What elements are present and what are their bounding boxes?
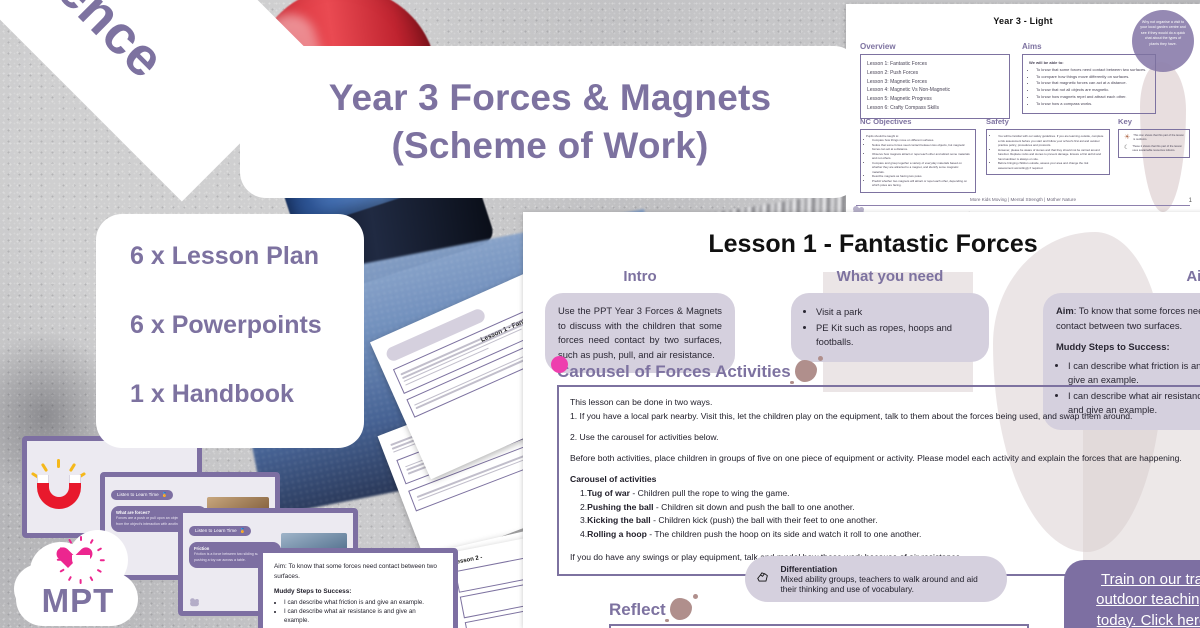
doc-nc-item: Notice that some forces need contact bet… [872, 143, 970, 152]
lesson1-steps-heading: Muddy Steps to Success: [1056, 341, 1170, 352]
paint-splat-icon [670, 598, 692, 620]
pink-splat-icon [551, 356, 568, 373]
feature-item-powerpoints: 6 x Powerpoints [130, 311, 364, 340]
activity-name: Pushing the ball [587, 502, 653, 512]
paint-splat-icon [795, 360, 817, 382]
activity-name: Kicking the ball [587, 515, 651, 525]
lesson1-carousel-box: This lesson can be done in two ways. 1. … [557, 385, 1200, 576]
doc-section-overview: Overview Lesson 1: Fantastic Forces Less… [860, 42, 1010, 119]
lesson1-activities-heading: Carousel of activities [570, 473, 1192, 487]
doc-overview-lesson: Lesson 2: Push Forces [867, 69, 1003, 78]
doc-key-item: These 2 shows that this part of the less… [1132, 145, 1184, 153]
doc-nc-item: Predict whether two magnets will attract… [872, 179, 970, 188]
lesson1-aim-label: Aim [1056, 305, 1074, 316]
muddy-cloud-icon [189, 599, 200, 607]
cta-banner[interactable]: Train on our tra outdoor teaching today.… [1064, 560, 1200, 628]
doc-aims-item: To know how magnets repel and attract ea… [1036, 94, 1149, 101]
doc-safety-box: You will be familiar with our safety gui… [986, 129, 1110, 175]
listen-to-learn-badge: Listen to Learn Time 🏅 [111, 490, 173, 500]
cta-line1: Train on our tra [1101, 571, 1200, 588]
slide4-step: I can describe what friction is and give… [284, 599, 442, 608]
activity-desc: - Children pull the rope to wing the gam… [630, 488, 790, 498]
doc-section-key: Key ☀ This icon shows that this part of … [1118, 117, 1190, 158]
doc-aims-item: To compare how things move differently o… [1036, 74, 1149, 81]
leaf-icon: ☾ [1124, 145, 1129, 151]
doc-nc-item: Observe how magnets attract or repel eac… [872, 152, 970, 161]
activity-desc: - Children kick (push) the ball with the… [651, 515, 878, 525]
doc-aims-box: We will be able to: To know that some fo… [1022, 54, 1156, 114]
activity-desc: - The children push the hoop on its side… [647, 529, 922, 539]
doc-nc-box: Pupils should be taught to: Compare how … [860, 129, 976, 193]
doc-nc-heading: NC Objectives [860, 117, 976, 126]
lesson1-reflect-heading-text: Reflect [609, 600, 666, 619]
doc-key-heading: Key [1118, 117, 1190, 126]
lesson1-activity-item: 3.Kicking the ball - Children kick (push… [570, 514, 1192, 528]
doc-safety-heading: Safety [986, 117, 1110, 126]
lesson1-carousel-section: Carousel of Forces Activities This lesso… [557, 360, 1200, 576]
doc-overview-heading: Overview [860, 42, 1010, 51]
activity-name: Rolling a hoop [587, 529, 647, 539]
cta-text[interactable]: Train on our tra outdoor teaching today.… [1080, 570, 1200, 628]
lesson1-carousel-heading: Carousel of Forces Activities [557, 360, 1200, 382]
doc-safety-item: However, please be aware of stones and t… [998, 148, 1104, 162]
doc-section-nc-objectives: NC Objectives Pupils should be taught to… [860, 117, 976, 193]
listen-to-learn-label: Listen to Learn Time [195, 528, 237, 533]
lesson1-intro-heading: Intro [545, 268, 735, 285]
lesson1-reflect-heading: Reflect [609, 598, 1029, 620]
doc-key-box: ☀ This icon shows that this part of the … [1118, 129, 1190, 158]
lesson1-needs-box: Visit a park PE Kit such as ropes, hoops… [791, 293, 989, 362]
cta-line3: today. Click here [1097, 612, 1200, 628]
doc-safety-item: You will be familiar with our safety gui… [998, 134, 1104, 148]
doc-overview-lesson: Lesson 4: Magnetic Vs Non-Magnetic [867, 86, 1003, 95]
powerpoint-slide-thumbnail[interactable]: Aim: To know that some forces need conta… [258, 548, 458, 628]
sun-icon: ☀ [1124, 134, 1130, 141]
heart-icon [68, 548, 94, 572]
doc-footer-strapline: More Kids Moving | Mental Strength | Mot… [846, 197, 1200, 202]
lesson1-reflect-section: Reflect | Go into the Muddy Walk & Talk.… [609, 598, 1029, 628]
slide4-aim: Aim: To know that some forces need conta… [274, 562, 442, 581]
doc-page-number: 1 [1189, 198, 1192, 204]
doc-footer-rule [856, 205, 1190, 206]
lesson1-carousel-line: Before both activities, place children i… [570, 452, 1192, 466]
doc-aims-heading: Aims [1022, 42, 1156, 51]
doc-overview-lesson: Lesson 3: Magnetic Forces [867, 78, 1003, 87]
doc-overview-lesson: Lesson 5: Magnetic Progress [867, 95, 1003, 104]
doc-section-aims: Aims We will be able to: To know that so… [1022, 42, 1156, 114]
page-title-line1: Year 3 Forces & Magnets [329, 77, 772, 118]
listen-to-learn-badge: Listen to Learn Time 🏅 [189, 526, 251, 536]
features-card: 6 x Lesson Plan 6 x Powerpoints 1 x Hand… [96, 214, 364, 448]
slide4-step: I can describe what air resistance is an… [284, 608, 442, 626]
lesson1-activity-item: 2.Pushing the ball - Children sit down a… [570, 501, 1192, 515]
activity-name: Tug of war [587, 488, 630, 498]
doc-overview-box: Lesson 1: Fantastic Forces Lesson 2: Pus… [860, 54, 1010, 119]
lesson1-aims-heading: Aims [1043, 268, 1200, 285]
cta-line2: outdoor teaching [1096, 591, 1200, 608]
lesson1-activity-item: 1.Tug of war - Children pull the rope to… [570, 487, 1192, 501]
lesson1-carousel-line: 2. Use the carousel for activities below… [570, 431, 1192, 445]
lesson1-intro-column: Intro Use the PPT Year 3 Forces & Magnet… [545, 268, 735, 373]
lesson1-carousel-heading-text: Carousel of Forces Activities [557, 362, 791, 381]
lesson1-aim-text: : To know that some forces need contact … [1056, 305, 1200, 331]
poster-canvas: Science Year 3 - Light Why not organise … [0, 0, 1200, 628]
activity-desc: - Children sit down and push the ball to… [654, 502, 855, 512]
feature-item-lesson-plan: 6 x Lesson Plan [130, 242, 364, 271]
lesson1-carousel-line: 1. If you have a local park nearby. Visi… [570, 410, 1192, 424]
doc-overview-lesson: Lesson 1: Fantastic Forces [867, 60, 1003, 69]
differentiation-text: Mixed ability groups, teachers to walk a… [780, 574, 991, 594]
main-title-card: Year 3 Forces & Magnets (Scheme of Work) [240, 46, 860, 198]
doc-safety-item: Before bringing children outside, assess… [998, 161, 1104, 170]
horseshoe-magnet-icon [37, 465, 81, 509]
doc-overview-lesson: Lesson 6: Crafty Compass Skills [867, 104, 1003, 113]
medal-icon: 🏅 [162, 492, 168, 498]
lesson1-activity-item: 4.Rolling a hoop - The children push the… [570, 528, 1192, 542]
overview-document-preview[interactable]: Year 3 - Light Why not organise a visit … [846, 4, 1200, 218]
doc-aims-item: To know that magnetic forces can act at … [1036, 80, 1149, 87]
mpt-logo[interactable]: MPT [14, 528, 142, 624]
lesson1-needs-heading: What you need [791, 268, 989, 285]
feature-item-handbook: 1 x Handbook [130, 380, 364, 409]
page-title: Year 3 Forces & Magnets (Scheme of Work) [329, 74, 772, 170]
doc-aims-item: To know that not all objects are magneti… [1036, 87, 1149, 94]
lesson1-differentiation: Differentiation Mixed ability groups, te… [745, 556, 1007, 602]
lesson1-needs-column: What you need Visit a park PE Kit such a… [791, 268, 989, 362]
doc-section-safety: Safety You will be familiar with our saf… [986, 117, 1110, 175]
listen-to-learn-label: Listen to Learn Time [117, 492, 159, 497]
slide4-steps-heading: Muddy Steps to Success: [274, 588, 442, 595]
doc-key-item: This icon shows that this part of the le… [1133, 134, 1184, 142]
lesson1-needs-item: Visit a park [816, 305, 976, 320]
doc-aims-item: To know that some forces need contact be… [1036, 67, 1149, 74]
helping-hands-icon [755, 564, 771, 590]
logo-text: MPT [18, 582, 138, 620]
lesson1-needs-item: PE Kit such as ropes, hoops and football… [816, 321, 976, 350]
medal-icon: 🏅 [240, 528, 246, 534]
page-title-line2: (Scheme of Work) [391, 125, 708, 166]
differentiation-heading: Differentiation [780, 564, 991, 574]
doc-aims-intro: We will be able to: [1029, 60, 1149, 67]
doc-nc-item: Compare and group together a variety of … [872, 161, 970, 175]
lesson1-carousel-line: This lesson can be done in two ways. [570, 396, 1192, 410]
doc-aims-item: To know how a compass works. [1036, 101, 1149, 108]
lesson1-title: Lesson 1 - Fantastic Forces [523, 230, 1200, 259]
